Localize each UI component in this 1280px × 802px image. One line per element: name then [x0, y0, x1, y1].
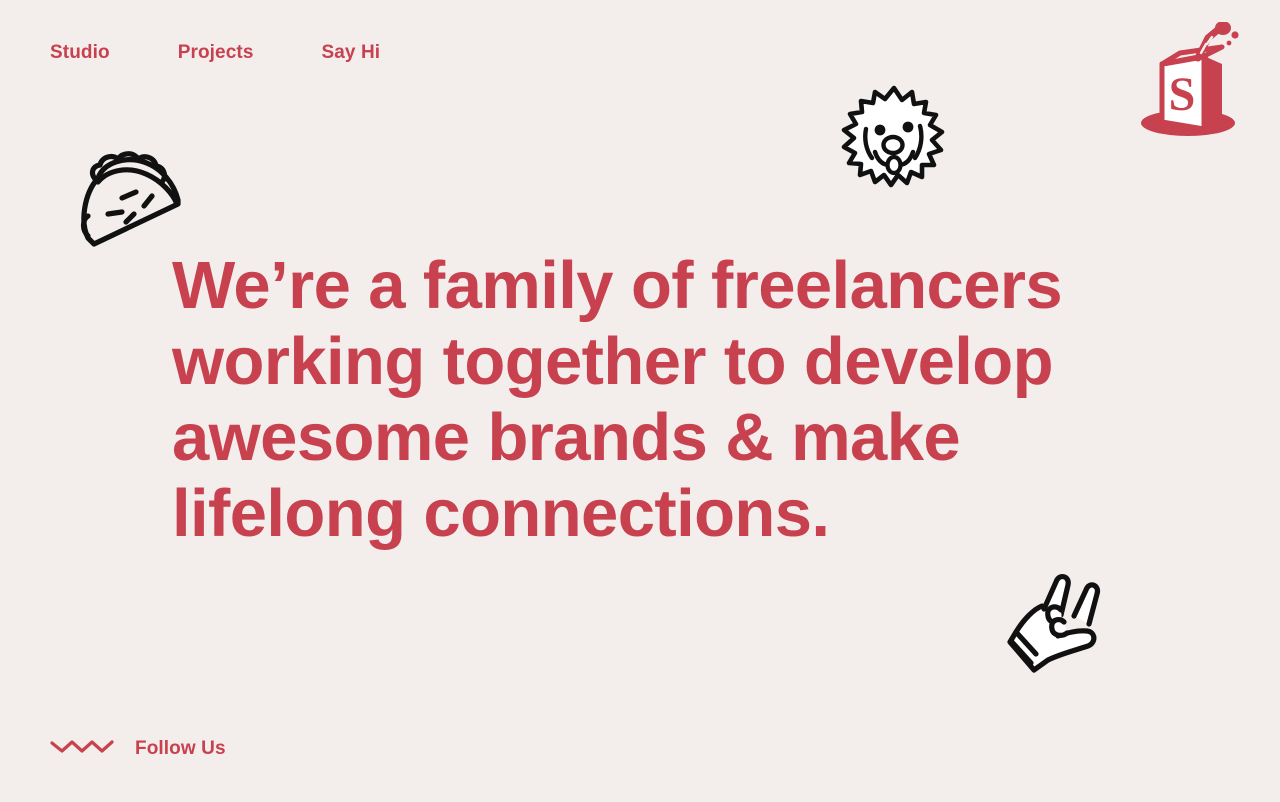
nav-item-say-hi[interactable]: Say Hi: [321, 42, 380, 65]
nav-item-projects[interactable]: Projects: [178, 42, 254, 65]
nav-item-studio[interactable]: Studio: [50, 42, 110, 65]
zigzag-wave-icon: [50, 737, 114, 760]
headline-line-3: awesome brands & make: [172, 400, 1132, 476]
hero-headline: We’re a family of freelancers working to…: [172, 248, 1132, 552]
rock-hand-icon: [1004, 562, 1108, 683]
headline-line-1: We’re a family of freelancers: [172, 248, 1132, 324]
juice-carton-icon: S: [1128, 22, 1248, 145]
svg-text:S: S: [1169, 68, 1196, 121]
landing-page: Studio Projects Say Hi: [0, 0, 1280, 802]
follow-us-label[interactable]: Follow Us: [135, 738, 226, 760]
dog-face-icon: [836, 82, 954, 199]
headline-line-2: working together to develop: [172, 324, 1132, 400]
headline-line-4: lifelong connections.: [172, 476, 1132, 552]
follow-us-group[interactable]: Follow Us: [50, 737, 226, 760]
taco-icon: [74, 148, 190, 257]
primary-navigation: Studio Projects Say Hi: [50, 42, 380, 65]
